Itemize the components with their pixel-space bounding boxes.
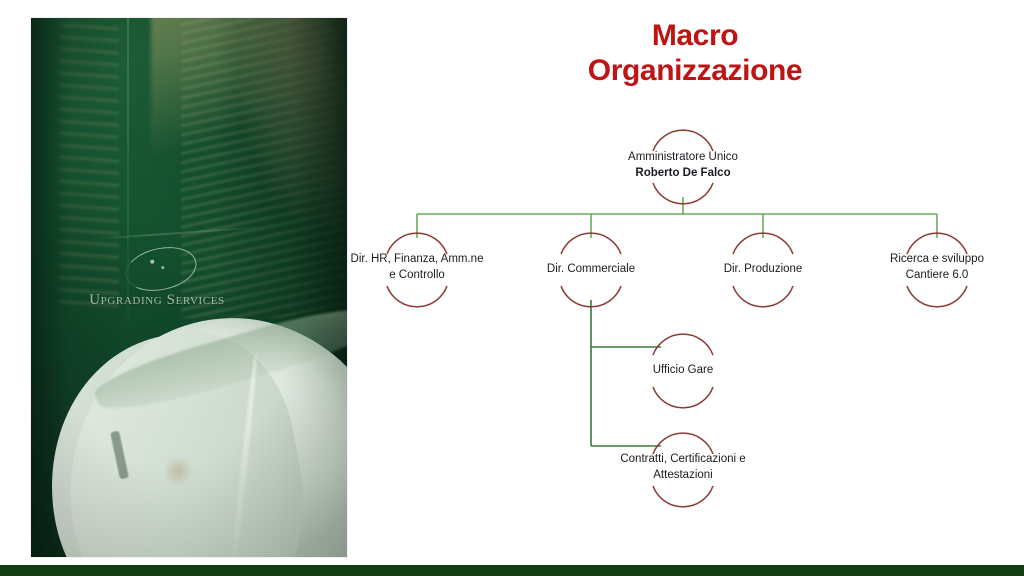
org-node-contratti-role: Contratti, Certificazioni e (533, 452, 833, 468)
org-node-ceo-role: Amministratore Unico (533, 150, 833, 166)
org-node-ufficio-gare[interactable]: Ufficio Gare (533, 363, 833, 379)
org-node-contratti[interactable]: Contratti, Certificazioni e Attestazioni (533, 452, 833, 483)
arc-bottom-contratti (653, 486, 713, 507)
org-node-contratti-role-line2: Attestazioni (533, 468, 833, 484)
org-chart: Amministratore Unico Roberto De Falco Di… (347, 0, 1024, 576)
org-node-ceo-person: Roberto De Falco (533, 166, 833, 182)
arc-top-contratti (653, 433, 713, 454)
org-node-ricerca-sviluppo-role-line2: Cantiere 6.0 (787, 268, 1024, 284)
photo-vignette (31, 18, 347, 557)
org-node-ricerca-sviluppo-role: Ricerca e sviluppo (787, 252, 1024, 268)
arc-bottom-ricerca-sviluppo (907, 286, 967, 307)
arc-bottom-dir-hr (387, 286, 447, 307)
arc-bottom-dir-produzione (733, 286, 793, 307)
org-chart-connectors (347, 0, 1024, 576)
arc-top-ufficio-gare (653, 334, 713, 355)
arc-top-ceo (653, 130, 713, 151)
bottom-accent-bar (0, 565, 1024, 576)
slide-canvas: Upgrading Services Macro Organizzazione (0, 0, 1024, 576)
org-node-ufficio-gare-role: Ufficio Gare (533, 363, 833, 379)
arc-bottom-ufficio-gare (653, 387, 713, 408)
org-node-ceo[interactable]: Amministratore Unico Roberto De Falco (533, 150, 833, 181)
node-outline-arcs (387, 130, 967, 507)
org-node-ricerca-sviluppo[interactable]: Ricerca e sviluppo Cantiere 6.0 (787, 252, 1024, 283)
slide-photo: Upgrading Services (31, 18, 347, 557)
